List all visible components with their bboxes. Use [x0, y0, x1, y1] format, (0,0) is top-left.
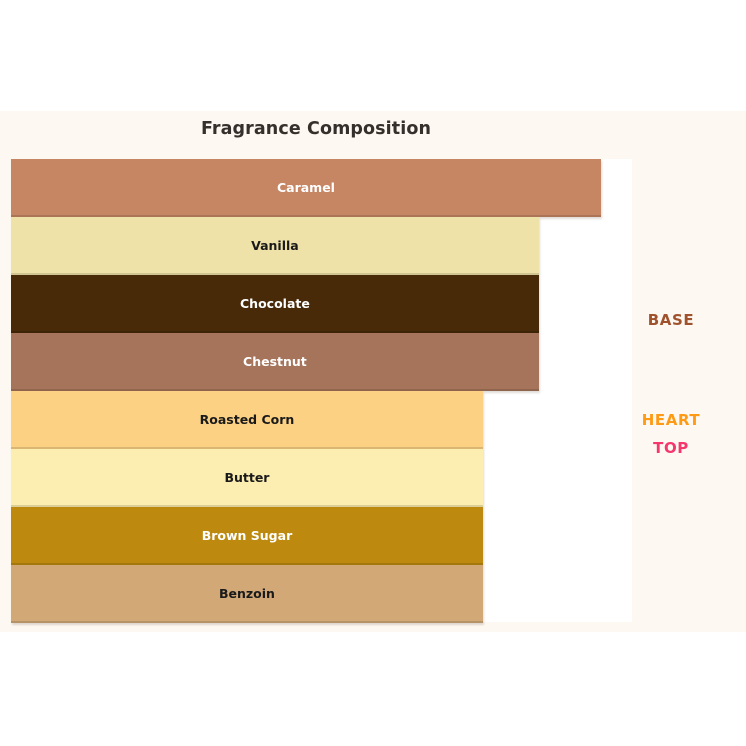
bar-segment[interactable]	[11, 391, 483, 449]
group-label-heart[interactable]: HEART	[642, 411, 701, 429]
bar-row: Roasted Corn	[11, 391, 632, 449]
chart-figure: Fragrance Composition CaramelVanillaChoc…	[0, 111, 746, 632]
bar-segment[interactable]	[11, 275, 539, 333]
bar-segment[interactable]	[11, 507, 483, 565]
bar-row: Butter	[11, 449, 632, 507]
bar-row: Benzoin	[11, 565, 632, 623]
bar-segment[interactable]	[11, 159, 601, 217]
bar-segment[interactable]	[11, 565, 483, 623]
page-title: Fragrance Composition	[0, 119, 632, 139]
bar-segment[interactable]	[11, 449, 483, 507]
bar-segment[interactable]	[11, 217, 539, 275]
plot-area: CaramelVanillaChocolateChestnutRoasted C…	[11, 159, 632, 622]
bar-row: Chocolate	[11, 275, 632, 333]
group-label-base[interactable]: BASE	[648, 311, 695, 329]
bar-row: Caramel	[11, 159, 632, 217]
bar-row: Chestnut	[11, 333, 632, 391]
bar-segment[interactable]	[11, 333, 539, 391]
bar-row: Vanilla	[11, 217, 632, 275]
bar-row: Brown Sugar	[11, 507, 632, 565]
group-label-top[interactable]: TOP	[653, 439, 689, 457]
